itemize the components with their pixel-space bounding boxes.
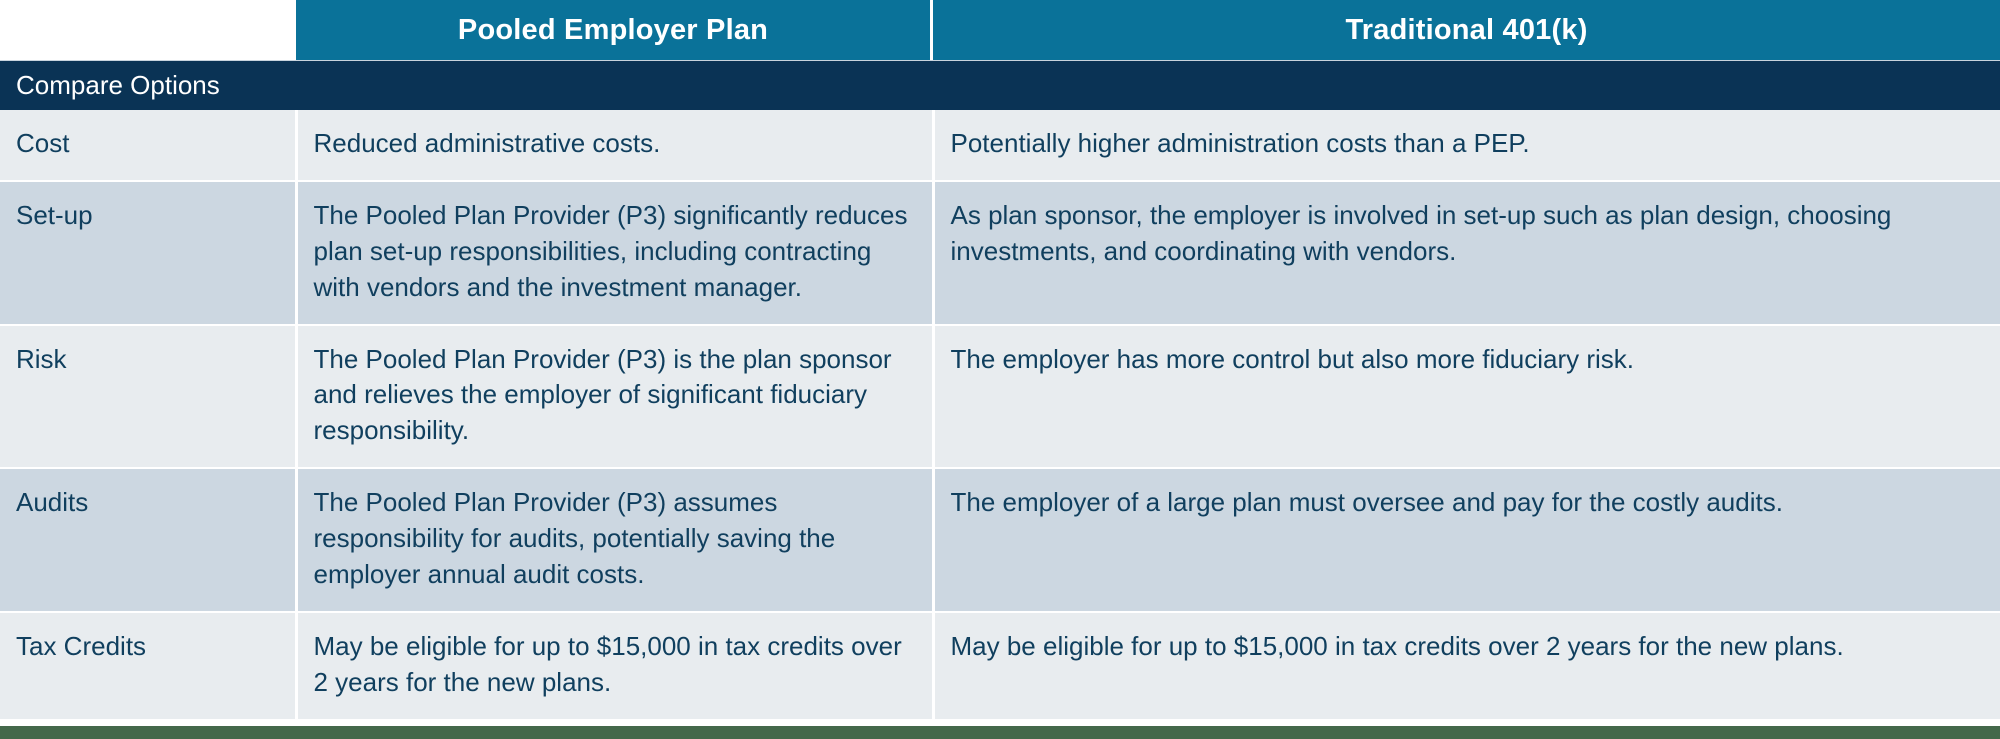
header-blank-cell <box>0 0 296 60</box>
cell-set-up-pep: The Pooled Plan Provider (P3) significan… <box>296 181 933 325</box>
cell-tax-credits-traditional: May be eligible for up to $15,000 in tax… <box>933 612 2000 720</box>
header-pooled-employer-plan: Pooled Employer Plan <box>296 0 933 60</box>
table-header-row: Pooled Employer Plan Traditional 401(k) <box>0 0 2000 60</box>
compare-options-title: Compare Options <box>16 70 220 101</box>
row-label-risk: Risk <box>0 325 296 469</box>
comparison-table: Cost Reduced administrative costs. Poten… <box>0 110 2000 721</box>
row-label-tax-credits: Tax Credits <box>0 612 296 720</box>
cell-set-up-traditional: As plan sponsor, the employer is involve… <box>933 181 2000 325</box>
row-label-audits: Audits <box>0 468 296 612</box>
table-row: Audits The Pooled Plan Provider (P3) ass… <box>0 468 2000 612</box>
cell-risk-pep: The Pooled Plan Provider (P3) is the pla… <box>296 325 933 469</box>
row-label-set-up: Set-up <box>0 181 296 325</box>
compare-options-band: Compare Options <box>0 60 2000 110</box>
table-row: Cost Reduced administrative costs. Poten… <box>0 110 2000 181</box>
header-traditional-401k: Traditional 401(k) <box>933 0 2000 60</box>
cell-tax-credits-pep: May be eligible for up to $15,000 in tax… <box>296 612 933 720</box>
cell-risk-traditional: The employer has more control but also m… <box>933 325 2000 469</box>
table-row: Tax Credits May be eligible for up to $1… <box>0 612 2000 720</box>
table-row: Set-up The Pooled Plan Provider (P3) sig… <box>0 181 2000 325</box>
comparison-slide: Pooled Employer Plan Traditional 401(k) … <box>0 0 2000 739</box>
bottom-accent-bar <box>0 726 2000 739</box>
cell-audits-pep: The Pooled Plan Provider (P3) assumes re… <box>296 468 933 612</box>
cell-cost-pep: Reduced administrative costs. <box>296 110 933 181</box>
cell-cost-traditional: Potentially higher administration costs … <box>933 110 2000 181</box>
cell-audits-traditional: The employer of a large plan must overse… <box>933 468 2000 612</box>
table-row: Risk The Pooled Plan Provider (P3) is th… <box>0 325 2000 469</box>
row-label-cost: Cost <box>0 110 296 181</box>
